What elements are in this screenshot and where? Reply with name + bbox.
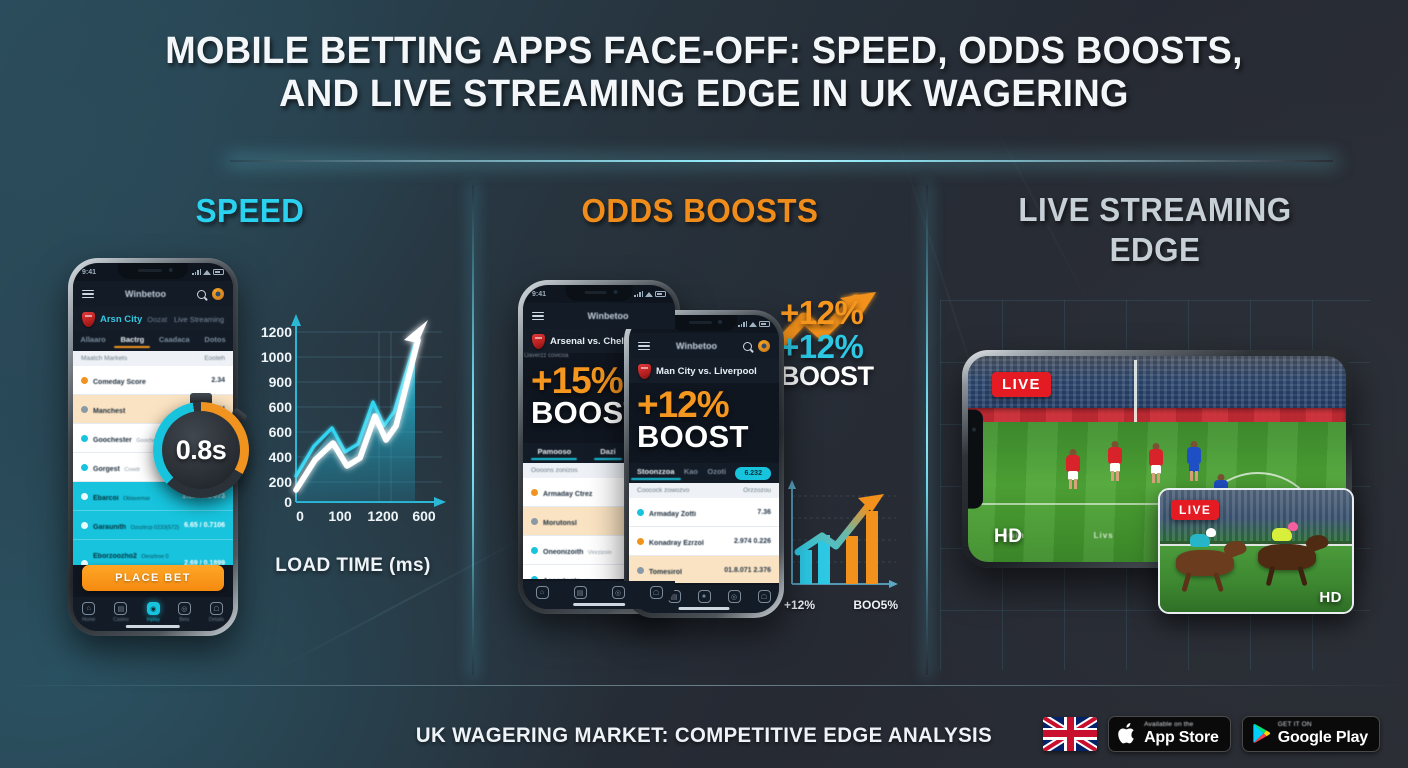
- live-heading-line-1: LIVE STREAMING: [1018, 191, 1291, 228]
- light-streak: [272, 530, 538, 673]
- account-icon: ☖: [758, 590, 771, 603]
- nav-item-casino[interactable]: ♠: [698, 590, 711, 603]
- row-text: Konadray Ezrzol: [649, 532, 729, 550]
- table-row[interactable]: Comeday Score 2.34: [73, 366, 233, 395]
- app-store-badge[interactable]: Available on the App Store: [1108, 716, 1231, 753]
- row-title: Oneonizoith: [543, 549, 583, 556]
- status-time: 9:41: [82, 269, 96, 276]
- row-title: Tomesirol: [649, 569, 682, 576]
- row-odds: 2.34: [211, 377, 225, 384]
- odds-boost-bar-chart: [780, 478, 900, 596]
- row-text: Armaday Zotti: [649, 503, 752, 521]
- stopwatch-value: 0.8s: [162, 411, 240, 489]
- row-subtitle: Cowdr: [124, 467, 140, 473]
- home-icon: ⌂: [536, 586, 549, 599]
- wifi-icon: [203, 270, 211, 275]
- market-status-dot: [531, 518, 538, 525]
- google-play-text: GET IT ON Google Play: [1278, 722, 1368, 747]
- section-divider-left: [472, 185, 474, 675]
- tab-item-active[interactable]: Pamooso: [537, 447, 571, 460]
- table-row[interactable]: Armaday Zotti 7.36: [629, 498, 779, 527]
- bet-list-header-right: Eooteh: [204, 355, 225, 362]
- home-indicator: [573, 603, 625, 606]
- market-status-dot: [531, 547, 538, 554]
- casino-icon: ◎: [612, 586, 625, 599]
- home-indicator: [126, 625, 180, 628]
- row-subtitle: Vinrzizoin: [588, 550, 612, 556]
- title-line-2: AND LIVE STREAMING EDGE IN UK WAGERING: [105, 73, 1303, 116]
- jockey-1: [1190, 534, 1212, 552]
- market-status-dot: [81, 522, 88, 529]
- bar-orange-2: [866, 511, 878, 584]
- footer-badges: Available on the App Store GET IT ON Goo…: [1043, 716, 1380, 753]
- x-axis-arrow: [434, 497, 446, 507]
- x-axis-tick-labels: 0 100 1200 600: [296, 508, 436, 524]
- casino-icon: ▤: [114, 602, 127, 615]
- tab-item-active[interactable]: Stoonzzoa: [637, 467, 675, 480]
- market-status-dot: [81, 464, 88, 471]
- bet-list: Coocock zowozvo Orzzozou Armaday Zotti 7…: [629, 483, 779, 583]
- status-icons: [192, 269, 224, 275]
- y-tick: 600: [269, 424, 293, 440]
- nav-label: Details: [209, 617, 224, 623]
- row-title: Armaday Ctrez: [543, 491, 592, 498]
- live-badge: LIVE: [992, 372, 1051, 397]
- table-row[interactable]: Garaunith Ozoztrcp 0233(572) 6.65 / 0.71…: [73, 511, 233, 540]
- table-row[interactable]: Tomesirol 01.8.071 2.376: [629, 556, 779, 583]
- app-brand-label: Winbetoo: [100, 289, 191, 299]
- load-time-chart: 1200 1000 900 600 600 400 200 0 0 100 12…: [252, 306, 452, 531]
- casino-icon: ♠: [698, 590, 711, 603]
- player-red: [1066, 455, 1080, 489]
- boost-callout-cyan: +12%: [780, 330, 915, 364]
- row-title: Comeday Score: [93, 379, 146, 386]
- y-tick: 1200: [261, 324, 292, 340]
- phone-notch: [968, 410, 983, 509]
- nav-item-casino[interactable]: ▤Casino: [113, 602, 129, 623]
- row-odds: 6.65 / 0.7106: [184, 522, 225, 529]
- match-header[interactable]: Arsn City Oozat Live Streaming: [73, 307, 233, 331]
- uk-flag-icon: [1043, 717, 1097, 751]
- market-status-dot: [81, 493, 88, 500]
- bar-label-2: BOO5%: [853, 598, 898, 612]
- signal-icon: [634, 291, 643, 297]
- google-play-icon: [1252, 722, 1271, 745]
- bar-chart-labels: +12% BOO5%: [780, 598, 902, 612]
- boost-callout-word: BOOST: [780, 363, 915, 391]
- hoarding-text: Livs: [1094, 531, 1114, 540]
- section-heading-odds-boosts: ODDS BOOSTS: [529, 192, 871, 230]
- row-title: Armaday Zotti: [649, 511, 696, 518]
- horse-racing-stream-inset: LIVE HD: [1158, 488, 1354, 614]
- bar-orange-1: [846, 536, 858, 584]
- match-header[interactable]: Man City vs. Liverpool: [629, 359, 779, 383]
- nav-item-home[interactable]: ⌂: [536, 586, 549, 599]
- market-status-dot: [637, 509, 644, 516]
- status-icons: [738, 321, 770, 327]
- phone-screen: 9:41 Winbetoo Man City vs. Liverpool +12…: [629, 315, 779, 613]
- row-odds: 01.8.071 2.376: [724, 567, 771, 574]
- market-status-dot: [531, 489, 538, 496]
- row-title: Gorgest: [93, 466, 120, 473]
- y-tick: 200: [269, 474, 293, 490]
- bet-list-header-left: Coocock zowozvo: [637, 487, 689, 494]
- row-title: Garaunith: [93, 524, 126, 531]
- x-tick: 100: [328, 508, 352, 524]
- inplay-icon: ◉: [147, 602, 160, 615]
- bet-list-header: Coocock zowozvo Orzzozou: [629, 483, 779, 498]
- search-icon[interactable]: [197, 290, 206, 299]
- hd-quality-badge: HD: [1319, 589, 1342, 606]
- row-title: Eborzoozho2: [93, 553, 137, 560]
- avatar[interactable]: [212, 288, 224, 300]
- bet-list-header: Maatch Markets Eooteh: [73, 351, 233, 366]
- bet-list-header-right: Orzzozou: [743, 487, 771, 494]
- app-bar: Winbetoo: [629, 333, 779, 359]
- tab-item[interactable]: Caadaca: [159, 335, 190, 348]
- avatar[interactable]: [758, 340, 770, 352]
- market-status-dot: [637, 538, 644, 545]
- row-odds: 2.974 0.226: [734, 538, 771, 545]
- odds-callouts: +12% +12% BOOST: [780, 296, 915, 391]
- chart-axis-caption: LOAD TIME (ms): [248, 555, 458, 577]
- y-tick: 600: [269, 399, 293, 415]
- nav-label: Inplay: [147, 617, 160, 623]
- market-status-dot: [81, 377, 88, 384]
- bar-cyan-1: [800, 550, 812, 584]
- row-subtitle: Oblavemar: [123, 496, 150, 502]
- infographic-canvas: MOBILE BETTING APPS FACE-OFF: SPEED, ODD…: [0, 0, 1408, 768]
- stopwatch-badge: 0.8s: [153, 402, 249, 498]
- status-time: 9:41: [532, 291, 546, 298]
- app-store-big-label: App Store: [1144, 730, 1219, 746]
- y-tick: 900: [269, 374, 293, 390]
- page-title: MOBILE BETTING APPS FACE-OFF: SPEED, ODD…: [28, 30, 1380, 115]
- nav-item-account[interactable]: ☖: [758, 590, 771, 603]
- place-bet-button[interactable]: PLACE BET: [82, 565, 224, 591]
- match-subtitle: Oozat: [147, 315, 167, 324]
- live-badge: LIVE: [1171, 500, 1219, 520]
- row-title: Goochester: [93, 437, 132, 444]
- row-text: Comeday Score: [93, 371, 206, 389]
- bet-list-header-left: Oooons zonizos: [531, 467, 578, 474]
- player-red: [1149, 449, 1163, 483]
- nav-item-casino[interactable]: ◎: [612, 586, 625, 599]
- row-text: Tomesirol: [649, 561, 719, 579]
- boost-hero: +12% BOOST: [629, 387, 779, 453]
- table-row[interactable]: Konadray Ezrzol 2.974 0.226: [629, 527, 779, 556]
- app-bar: Winbetoo: [523, 303, 675, 329]
- nav-item-account[interactable]: ☖Details: [209, 602, 224, 623]
- section-divider-right: [926, 185, 928, 675]
- market-status-dot: [81, 435, 88, 442]
- row-title: Ebarcoi: [93, 495, 119, 502]
- market-status-dot: [81, 406, 88, 413]
- tab-item[interactable]: Ozoti: [707, 467, 726, 480]
- row-title: Konadray Ezrzol: [649, 540, 704, 547]
- boost-subtitle: Oaverzz covicoa: [523, 353, 568, 359]
- x-tick: 1200: [367, 508, 398, 524]
- phone-mockup-odds-front: 9:41 Winbetoo Man City vs. Liverpool +12…: [624, 310, 784, 618]
- y-tick: 1000: [261, 349, 292, 365]
- club-crest-icon: [82, 312, 95, 327]
- battery-icon: [759, 321, 770, 327]
- y-tick: 400: [269, 449, 293, 465]
- phone-notch: [118, 263, 188, 279]
- racehorse-1: [1176, 550, 1234, 576]
- boost-percentage: +12%: [637, 387, 779, 422]
- status-icons: [634, 291, 666, 297]
- app-store-text: Available on the App Store: [1144, 722, 1219, 747]
- x-tick: 0: [296, 508, 304, 524]
- app-store-small-label: Available on the: [1144, 722, 1219, 729]
- hd-quality-badge: HD: [994, 526, 1022, 548]
- google-play-badge[interactable]: GET IT ON Google Play: [1242, 716, 1380, 753]
- row-text: Garaunith Ozoztrcp 0233(572): [93, 516, 179, 534]
- account-icon: ☖: [210, 602, 223, 615]
- footer-divider: [0, 685, 1408, 686]
- racehorse-2: [1258, 544, 1316, 570]
- market-status-dot: [531, 576, 538, 580]
- tab-bar: Stoonzzoa Kao Ozoti 6.232: [629, 463, 779, 483]
- app-brand-label: Winbetoo: [550, 311, 666, 321]
- tab-pill-badge[interactable]: 6.232: [735, 467, 771, 480]
- live-heading-line-2: EDGE: [1110, 231, 1201, 268]
- battery-icon: [655, 291, 666, 297]
- google-play-big-label: Google Play: [1278, 730, 1368, 746]
- section-heading-speed: SPEED: [127, 192, 374, 230]
- match-name: Arsn City: [100, 314, 142, 325]
- tab-item[interactable]: Kao: [684, 467, 698, 480]
- section-heading-live-streaming: LIVE STREAMING EDGE: [970, 190, 1341, 269]
- promos-icon: ▤: [574, 586, 587, 599]
- bets-icon: ◎: [178, 602, 191, 615]
- apple-icon: [1118, 722, 1137, 745]
- match-name: Man City vs. Liverpool: [656, 366, 757, 377]
- signal-icon: [192, 269, 201, 275]
- tab-item[interactable]: Dazi: [600, 447, 615, 460]
- player-red: [1108, 447, 1122, 481]
- title-line-1: MOBILE BETTING APPS FACE-OFF: SPEED, ODD…: [165, 30, 1242, 72]
- market-status-dot: [637, 567, 644, 574]
- y-tick: 0: [284, 494, 292, 510]
- boost-callout-orange: +12%: [780, 296, 915, 330]
- phone-notch: [671, 315, 737, 331]
- menu-icon[interactable]: [82, 290, 94, 299]
- bet-list-header-left: Maatch Markets: [81, 355, 127, 362]
- tab-item[interactable]: Dotos: [204, 335, 225, 348]
- club-crest-icon: [532, 334, 545, 349]
- y-axis-arrow: [788, 480, 796, 489]
- table-row[interactable]: Eborzoozho2 Oeoztroe 0 03423542 2.69 / 0…: [73, 540, 233, 565]
- goalpost: [1134, 360, 1137, 430]
- x-tick: 600: [412, 508, 436, 524]
- x-axis-arrow: [889, 580, 898, 588]
- app-brand-label: Winbetoo: [656, 341, 737, 351]
- row-odds: 7.36: [757, 509, 771, 516]
- row-subtitle: Ozoztrcp 0233(572): [131, 525, 180, 531]
- nav-label: Home: [82, 617, 95, 623]
- account-icon: ☖: [650, 586, 663, 599]
- nav-item-promos[interactable]: ▤: [574, 586, 587, 599]
- menu-icon[interactable]: [532, 312, 544, 321]
- club-crest-icon: [638, 364, 651, 379]
- row-title: Morutonsl: [543, 520, 577, 527]
- google-play-small-label: GET IT ON: [1278, 722, 1368, 729]
- home-indicator: [679, 607, 730, 610]
- boost-label: BOOST: [637, 422, 779, 452]
- battery-icon: [213, 269, 224, 275]
- tab-item[interactable]: Allaaro: [80, 335, 105, 348]
- nav-item-boosts[interactable]: ◎: [728, 590, 741, 603]
- row-title: Aosortonts: [543, 578, 580, 579]
- nav-item-bets[interactable]: ◎Bets: [178, 602, 191, 623]
- menu-icon[interactable]: [638, 342, 650, 351]
- player-blue: [1187, 447, 1201, 481]
- home-icon: ⌂: [82, 602, 95, 615]
- nav-item-home[interactable]: ⌂Home: [82, 602, 95, 623]
- wifi-icon: [645, 292, 653, 297]
- app-bar: Winbetoo: [73, 281, 233, 307]
- title-divider: [230, 160, 1333, 162]
- jockey-2: [1272, 528, 1294, 546]
- nav-item-account[interactable]: ☖: [650, 586, 663, 599]
- nav-label: Bets: [179, 617, 189, 623]
- y-axis-arrow: [291, 314, 301, 326]
- row-text: Eborzoozho2 Oeoztroe 0 03423542: [93, 545, 179, 565]
- phone-notch: [566, 285, 633, 301]
- bar-label-1: +12%: [784, 598, 815, 612]
- stopwatch-dial: 0.8s: [153, 402, 249, 498]
- nav-label: Casino: [113, 617, 129, 623]
- y-axis-tick-labels: 1200 1000 900 600 600 400 200 0: [261, 324, 292, 510]
- nav-item-inplay[interactable]: ◉Inplay: [147, 602, 160, 623]
- row-title: Manchest: [93, 408, 125, 415]
- signal-icon: [738, 321, 747, 327]
- wifi-icon: [749, 322, 757, 327]
- tab-bar: Allaaro Bactrg Caadaca Dotos: [73, 331, 233, 351]
- match-meta: Live Streaming: [174, 315, 224, 324]
- search-icon[interactable]: [743, 342, 752, 351]
- boost-icon: ◎: [728, 590, 741, 603]
- tab-item-active[interactable]: Bactrg: [120, 335, 144, 348]
